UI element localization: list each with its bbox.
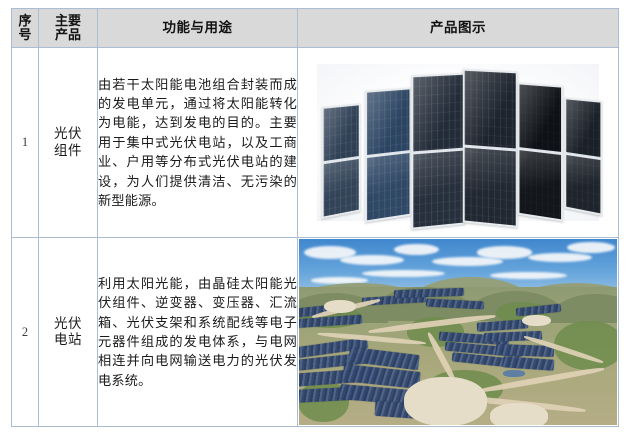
column-header-product: 主要 产品	[39, 9, 98, 48]
row-usage-description: 利用太阳光能，由晶硅太阳能光伏组件、逆变器、变压器、汇流箱、光伏支架和系统配线等…	[98, 238, 298, 427]
construction-pad	[522, 315, 551, 326]
table-row: 1 光伏 组件 由若干太阳能电池组合封装而成的发电单元，通过将太阳能转化为电能，…	[12, 48, 619, 238]
table-row: 2 光伏 电站 利用太阳光能，由晶硅太阳能光伏组件、逆变器、变压器、汇流箱、光伏…	[12, 238, 619, 427]
panel-lower-reflection	[465, 146, 516, 226]
solar-module-array-illustration	[298, 49, 618, 237]
solar-panel-3	[411, 73, 465, 231]
row-seq-number: 1	[12, 48, 39, 238]
table-header-row: 序 号 主要 产品 功能与用途 产品图示	[12, 9, 619, 48]
solar-panel-4	[463, 69, 518, 228]
construction-pad	[404, 377, 487, 426]
construction-pad	[324, 300, 356, 313]
table-body: 1 光伏 组件 由若干太阳能电池组合封装而成的发电单元，通过将太阳能转化为电能，…	[12, 48, 619, 427]
product-overview-table: 序 号 主要 产品 功能与用途 产品图示 1 光伏 组件 由若干太阳能电池组合封	[11, 8, 619, 427]
cloud	[394, 244, 439, 255]
row-product-name: 光伏 电站	[39, 238, 98, 427]
vegetation-patch	[554, 321, 618, 370]
cloud	[477, 246, 531, 258]
column-header-seq: 序 号	[12, 9, 39, 48]
row-usage-description: 由若干太阳能电池组合封装而成的发电单元，通过将太阳能转化为电能，达到发电的目的。…	[98, 48, 298, 238]
column-header-illustration: 产品图示	[298, 9, 619, 48]
column-header-product-line1: 主要	[39, 14, 97, 28]
row-product-name: 光伏 组件	[39, 48, 98, 238]
row-product-name-line2: 电站	[39, 332, 97, 348]
cloud	[567, 242, 615, 253]
row-product-name-line2: 组件	[39, 143, 97, 159]
panel-lower-reflection	[367, 151, 409, 220]
panel-stage	[298, 49, 618, 237]
cloud	[340, 255, 404, 265]
row-product-name-line1: 光伏	[39, 126, 97, 142]
column-header-product-line2: 产品	[39, 28, 97, 42]
column-header-usage: 功能与用途	[98, 9, 298, 48]
row-seq-number: 2	[12, 238, 39, 427]
solar-panel-6	[565, 98, 603, 217]
row-product-name-line1: 光伏	[39, 316, 97, 332]
solar-panel-5	[517, 83, 562, 222]
panel-lower-reflection	[413, 149, 463, 228]
panel-lower-reflection	[519, 149, 560, 219]
document-page: 序 号 主要 产品 功能与用途 产品图示 1 光伏 组件 由若干太阳能电池组合封	[0, 0, 640, 433]
column-header-seq-line2: 号	[12, 28, 38, 42]
solar-power-plant-aerial-photo	[298, 238, 618, 426]
construction-pad	[490, 403, 548, 426]
table-header: 序 号 主要 产品 功能与用途 产品图示	[12, 9, 619, 48]
panel-lower-reflection	[324, 157, 359, 216]
column-header-seq-line1: 序	[12, 14, 38, 28]
row-illustration-cell	[298, 238, 619, 427]
panel-lower-reflection	[567, 153, 602, 213]
solar-panel-1	[322, 103, 361, 219]
row-illustration-cell	[298, 48, 619, 238]
solar-panel-2	[365, 87, 411, 222]
water-pond	[503, 370, 525, 378]
